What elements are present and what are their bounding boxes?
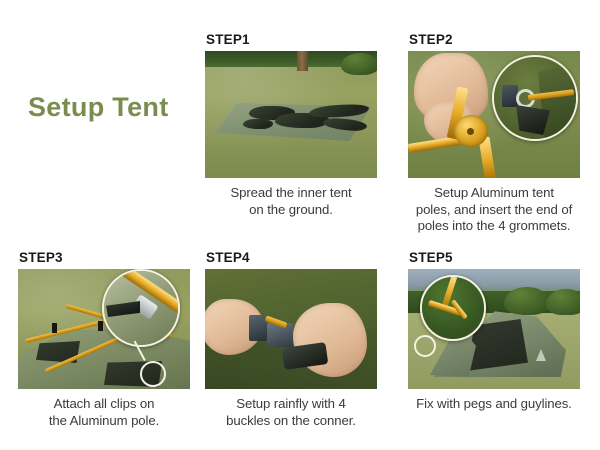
step-caption-3: Attach all clips on the Aluminum pole. [18,396,190,429]
step-card-3: STEP3 Attach all clips on the Aluminum p… [18,250,190,429]
caption-line: Setup rainfly with 4 [198,396,384,413]
tent-clip-icon [98,321,103,331]
step-label-4: STEP4 [206,250,377,265]
step-photo-3 [18,269,190,389]
hub-center-icon [467,128,474,135]
caption-line: Fix with pegs and guylines. [396,396,592,413]
tent-bundle-icon [243,119,273,129]
caption-line: buckles on the conner. [198,413,384,430]
caption-line: poles, and insert the end of [396,202,592,219]
shrub-icon [341,53,377,75]
step-card-1: STEP1 Spread the inner tent on the groun… [205,32,377,218]
shrub-icon [546,289,580,315]
step-photo-4 [205,269,377,389]
detail-inset-5 [420,275,486,341]
step-card-4: STEP4 Setup rainfly with 4 buckles on th… [205,250,377,429]
caption-line: the Aluminum pole. [18,413,190,430]
caption-line: Attach all clips on [18,396,190,413]
caption-line: poles into the 4 grommets. [396,218,592,235]
detail-inset-3 [102,269,180,347]
step-photo-1 [205,51,377,178]
caption-line: on the ground. [205,202,377,219]
step-caption-5: Fix with pegs and guylines. [396,396,592,413]
tree-trunk-icon [297,51,308,71]
step-label-5: STEP5 [409,250,580,265]
tent-clip-icon [52,323,57,333]
detail-inset-2 [492,55,578,141]
step-label-2: STEP2 [409,32,580,47]
detail-target-circle-3 [140,361,166,387]
step-caption-4: Setup rainfly with 4 buckles on the conn… [198,396,384,429]
step-label-1: STEP1 [206,32,377,47]
step-photo-5 [408,269,580,389]
step-photo-2 [408,51,580,178]
step-card-5: STEP5 Fix with pegs and guylines. [408,250,580,413]
caption-line: Setup Aluminum tent [396,185,592,202]
step-card-2: STEP2 Setup Aluminum tent poles, and ins… [408,32,580,235]
caption-line: Spread the inner tent [205,185,377,202]
step-caption-1: Spread the inner tent on the ground. [205,185,377,218]
step-label-3: STEP3 [19,250,190,265]
step-caption-2: Setup Aluminum tent poles, and insert th… [396,185,592,235]
shrub-icon [504,287,550,315]
detail-target-circle-5 [414,335,436,357]
page-title: Setup Tent [28,92,169,123]
